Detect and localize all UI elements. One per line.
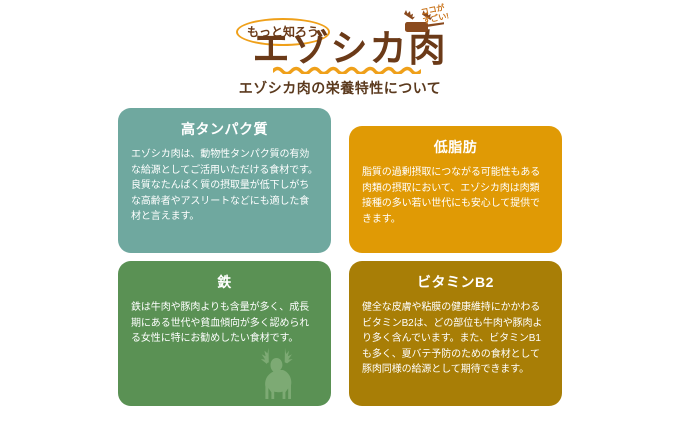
card-iron: 鉄 鉄は牛肉や豚肉よりも含量が多く、成長期にある世代や貧血傾向が多く認められる女… <box>118 261 331 406</box>
infographic-page: もっと知ろう エゾシカ肉 ココが すごい! エゾシカ肉の栄養特性について 高タン… <box>0 0 680 421</box>
card-body: 健全な皮膚や粘膜の健康維持にかかわるビタミンB2は、どの部位も牛肉や豚肉より多く… <box>349 300 562 388</box>
card-high-protein: 高タンパク質 エゾシカ肉は、動物性タンパク質の有効な給源としてご活用いただける食… <box>118 108 331 253</box>
wavy-underline-decoration <box>273 66 421 74</box>
header: もっと知ろう エゾシカ肉 ココが すごい! エゾシカ肉の栄養特性について <box>0 0 680 100</box>
card-title: 高タンパク質 <box>118 119 331 139</box>
card-body: エゾシカ肉は、動物性タンパク質の有効な給源としてご活用いただける食材です。良質な… <box>118 147 331 235</box>
card-body: 鉄は牛肉や豚肉よりも含量が多く、成長期にある世代や貧血傾向が多く認められる女性に… <box>118 300 331 357</box>
card-title: 鉄 <box>118 272 331 292</box>
page-subtitle: エゾシカ肉の栄養特性について <box>0 78 680 98</box>
page-title: エゾシカ肉 <box>10 28 680 70</box>
card-body: 脂質の過剰摂取につながる可能性もある肉類の摂取において、エゾシカ肉は肉類接種の多… <box>349 165 562 237</box>
card-title: ビタミンB2 <box>349 272 562 292</box>
card-vitamin-b2: ビタミンB2 健全な皮膚や粘膜の健康維持にかかわるビタミンB2は、どの部位も牛肉… <box>349 261 562 406</box>
card-low-fat: 低脂肪 脂質の過剰摂取につながる可能性もある肉類の摂取において、エゾシカ肉は肉類… <box>349 126 562 253</box>
card-title: 低脂肪 <box>349 137 562 157</box>
nutrition-card-grid: 高タンパク質 エゾシカ肉は、動物性タンパク質の有効な給源としてご活用いただける食… <box>118 108 562 406</box>
